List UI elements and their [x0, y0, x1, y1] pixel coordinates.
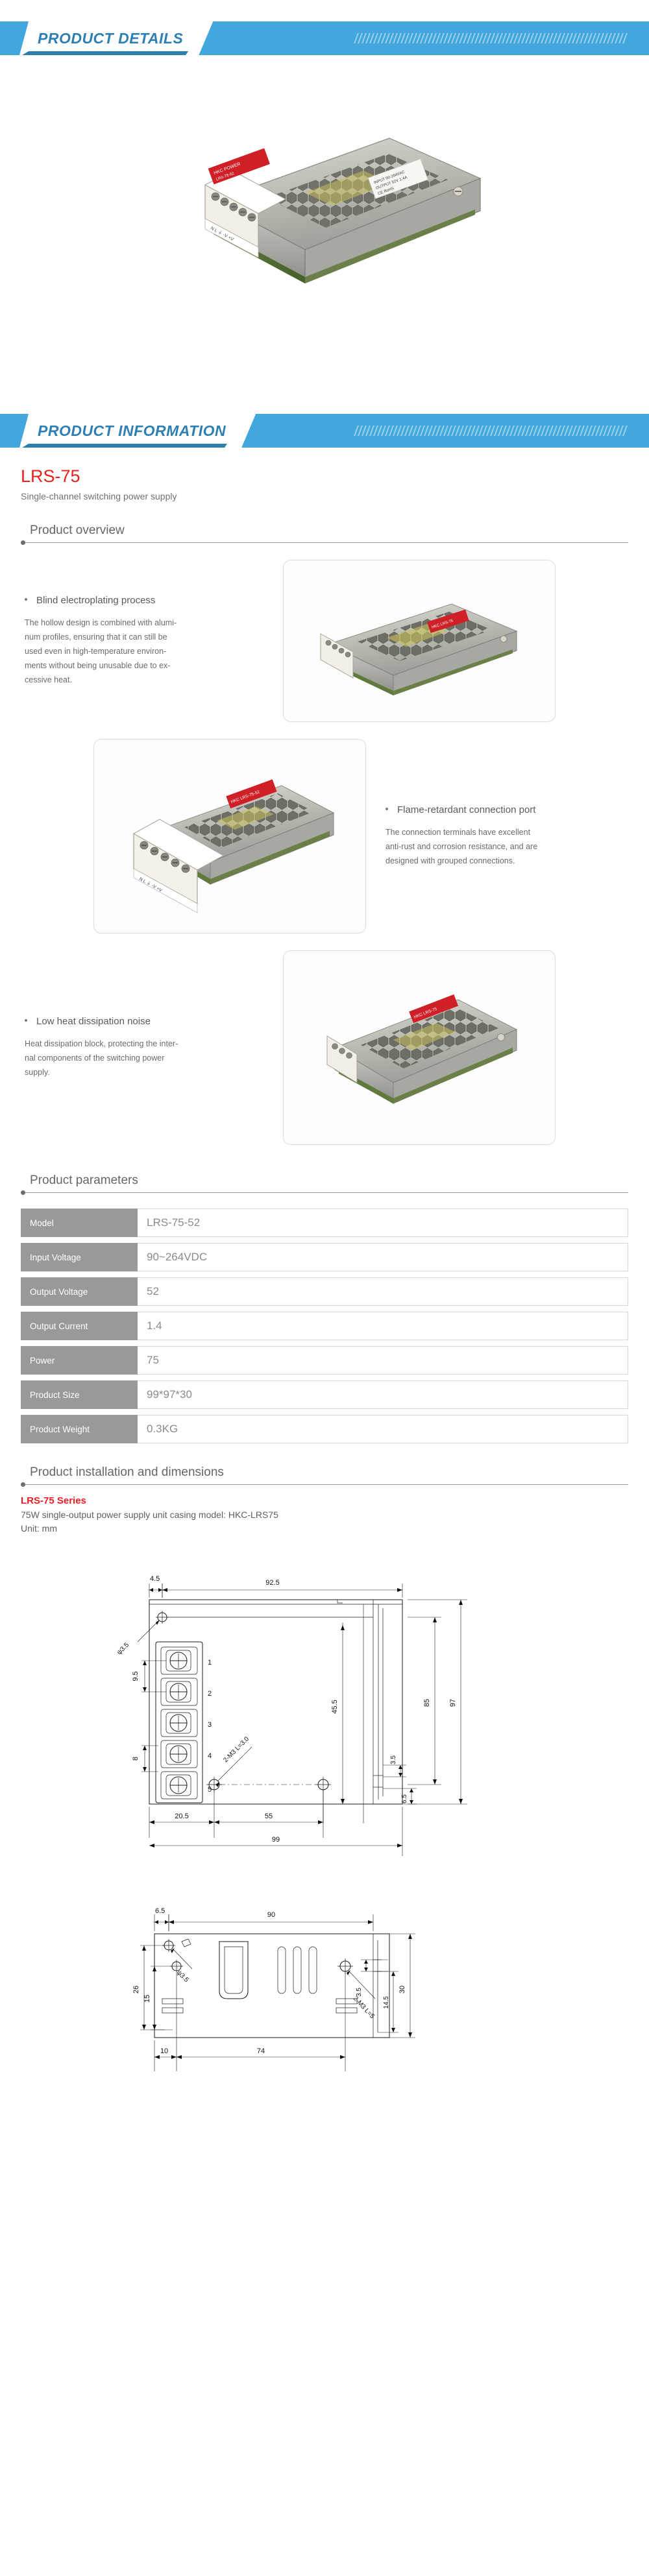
- dim-label-6-5-bottom: 6.5: [155, 1907, 165, 1915]
- feature-block: Low heat dissipation noise Heat dissipat…: [21, 950, 628, 1145]
- feature-body-line: anti-rust and corrosion resistance, and …: [386, 840, 624, 854]
- feature-block: Flame-retardant connection port The conn…: [21, 739, 628, 933]
- feature-image-1: HKC LRS-75: [283, 560, 556, 722]
- dim-label-3-5-bottom: 3.5: [356, 1988, 363, 1997]
- banner-tab-shadow: [19, 51, 188, 55]
- table-key: Output Voltage: [21, 1277, 138, 1306]
- bullet-icon: [25, 1019, 27, 1022]
- feature-body: The connection terminals have excellent …: [386, 826, 624, 869]
- feature-text: Low heat dissipation noise Heat dissipat…: [21, 1016, 267, 1080]
- dim-label-dia-3-5-bottom: ψ3.5: [175, 1969, 190, 1984]
- dimension-header: LRS-75 Series 75W single-output power su…: [21, 1495, 628, 1535]
- feature-text: Flame-retardant connection port The conn…: [382, 804, 628, 869]
- table-value: 52: [138, 1277, 628, 1306]
- dim-label-4-5: 4.5: [150, 1575, 160, 1583]
- dim-label-90: 90: [267, 1911, 275, 1919]
- section-dot-icon: [21, 1482, 25, 1487]
- feature-body-line: The connection terminals have excellent: [386, 826, 624, 840]
- dim-label-15: 15: [143, 1995, 151, 2003]
- dimension-drawing-svg: 4.5 92.5 ψ3.5: [78, 1545, 571, 2102]
- feature-title: Flame-retardant connection port: [397, 804, 535, 815]
- product-subtitle: Single-channel switching power supply: [21, 491, 628, 501]
- table-row: Product Weight 0.3KG: [21, 1415, 628, 1443]
- feature-body: Heat dissipation block, protecting the i…: [25, 1037, 263, 1080]
- feature-body-line: num profiles, ensuring that it can still…: [25, 631, 263, 645]
- technical-drawing: 4.5 92.5 ψ3.5: [0, 1545, 649, 2102]
- dim-label-3-5: 3.5: [390, 1755, 397, 1764]
- dim-label-74: 74: [257, 2047, 265, 2055]
- feature-body: The hollow design is combined with alumi…: [25, 616, 263, 687]
- table-key: Product Weight: [21, 1415, 138, 1443]
- dim-label-dia-3-5: ψ3.5: [116, 1642, 130, 1657]
- table-value: 90~264VDC: [138, 1243, 628, 1271]
- dim-label-26: 26: [132, 1986, 140, 1993]
- product-model-title: LRS-75: [21, 466, 628, 487]
- banner-product-information: PRODUCT INFORMATION: [0, 414, 649, 448]
- drawing-top-view: 4.5 92.5 ψ3.5: [116, 1575, 467, 1856]
- table-value: 1.4: [138, 1312, 628, 1340]
- table-value: 75: [138, 1346, 628, 1375]
- table-value: 99*97*30: [138, 1380, 628, 1409]
- hatch-decoration-icon: [356, 426, 626, 436]
- feature-body-line: supply.: [25, 1066, 263, 1080]
- section-installation-dimensions: Product installation and dimensions: [21, 1465, 628, 1485]
- table-row: Output Current 1.4: [21, 1312, 628, 1340]
- dim-label-97: 97: [449, 1699, 457, 1707]
- table-value: LRS-75-52: [138, 1209, 628, 1237]
- feature-title: Blind electroplating process: [36, 595, 155, 606]
- power-supply-photo-angle: HKC LRS-75: [289, 566, 549, 716]
- feature-body-line: ments without being unusable due to ex-: [25, 659, 263, 673]
- table-key: Model: [21, 1209, 138, 1237]
- dim-label-9-5: 9.5: [132, 1672, 140, 1681]
- dim-label-2-m3: 2-M3 L=3.0: [222, 1735, 251, 1764]
- section-rule: [25, 542, 628, 543]
- terminal-number: 3: [208, 1721, 212, 1729]
- dim-label-85: 85: [423, 1699, 431, 1707]
- dim-label-8: 8: [132, 1757, 140, 1761]
- banner-tab: PRODUCT DETAILS: [19, 21, 213, 55]
- table-row: Product Size 99*97*30: [21, 1380, 628, 1409]
- parameters-table: Model LRS-75-52 Input Voltage 90~264VDC …: [21, 1209, 628, 1443]
- banner-product-details: PRODUCT DETAILS: [0, 21, 649, 55]
- hatch-decoration-icon: [356, 33, 626, 43]
- section-heading: Product parameters: [21, 1174, 628, 1188]
- section-heading: Product installation and dimensions: [21, 1465, 628, 1480]
- table-row: Output Voltage 52: [21, 1277, 628, 1306]
- feature-image-3: HKC LRS-75: [283, 950, 556, 1145]
- product-header: LRS-75 Single-channel switching power su…: [0, 448, 649, 501]
- section-product-parameters: Product parameters: [21, 1174, 628, 1193]
- bullet-icon: [25, 598, 27, 601]
- section-rule: [25, 1484, 628, 1485]
- feature-body-line: used even in high-temperature environ-: [25, 645, 263, 659]
- section-dot-icon: [21, 540, 25, 545]
- section-heading: Product overview: [21, 524, 628, 538]
- drawing-bottom-view: 6.5 90 ψ3.5: [132, 1907, 415, 2071]
- feature-text: Blind electroplating process The hollow …: [21, 595, 267, 687]
- dim-label-99: 99: [272, 1836, 280, 1844]
- table-row: Input Voltage 90~264VDC: [21, 1243, 628, 1271]
- dim-label-20-5: 20.5: [175, 1812, 188, 1820]
- unit-line: Unit: mm: [21, 1522, 628, 1535]
- dim-label-10: 10: [160, 2047, 168, 2055]
- feature-body-line: nal components of the switching power: [25, 1052, 263, 1066]
- section-product-overview: Product overview: [21, 524, 628, 543]
- table-key: Product Size: [21, 1380, 138, 1409]
- table-row: Power 75: [21, 1346, 628, 1375]
- casing-model-line: 75W single-output power supply unit casi…: [21, 1508, 628, 1522]
- feature-title-row: Low heat dissipation noise: [25, 1016, 263, 1027]
- terminal-number: 4: [208, 1752, 212, 1760]
- feature-body-line: Heat dissipation block, protecting the i…: [25, 1037, 263, 1052]
- feature-title-row: Flame-retardant connection port: [386, 804, 624, 815]
- banner-tab: PRODUCT INFORMATION: [19, 414, 256, 448]
- feature-body-line: The hollow design is combined with alumi…: [25, 616, 263, 631]
- feature-image-2: N L ⏚ -V +V HKC LRS-75-52: [93, 739, 366, 933]
- bullet-icon: [386, 808, 388, 810]
- terminal-number: 2: [208, 1690, 212, 1698]
- table-value: 0.3KG: [138, 1415, 628, 1443]
- feature-body-line: cessive heat.: [25, 673, 263, 688]
- product-detail-page: PRODUCT DETAILS: [0, 21, 649, 2102]
- banner-title: PRODUCT DETAILS: [38, 30, 183, 47]
- dim-label-6-5: 6.5: [401, 1794, 408, 1803]
- table-key: Power: [21, 1346, 138, 1375]
- section-rule: [25, 1192, 628, 1193]
- feature-body-line: designed with grouped connections.: [386, 854, 624, 869]
- feature-title: Low heat dissipation noise: [36, 1016, 151, 1027]
- table-key: Output Current: [21, 1312, 138, 1340]
- hero-product-image: N L ⏚ -V +V HKC POWER LRS-75-52 INPUT 90…: [0, 55, 649, 392]
- section-dot-icon: [21, 1190, 25, 1195]
- table-key: Input Voltage: [21, 1243, 138, 1271]
- power-supply-photo-main: N L ⏚ -V +V HKC POWER LRS-75-52 INPUT 90…: [143, 88, 506, 360]
- dim-label-55: 55: [265, 1812, 273, 1820]
- dim-label-30: 30: [398, 1986, 406, 1993]
- feature-block: Blind electroplating process The hollow …: [21, 560, 628, 722]
- banner-tab-shadow: [19, 444, 227, 448]
- feature-title-row: Blind electroplating process: [25, 595, 263, 606]
- power-supply-photo-terminals: N L ⏚ -V +V HKC LRS-75-52: [100, 745, 360, 927]
- dim-label-14-5: 14.5: [383, 1996, 390, 2009]
- table-row: Model LRS-75-52: [21, 1209, 628, 1237]
- dim-label-92-5: 92.5: [265, 1579, 279, 1587]
- terminal-number: 1: [208, 1659, 212, 1667]
- power-supply-photo-vents: HKC LRS-75: [289, 957, 549, 1138]
- series-label: LRS-75 Series: [21, 1495, 628, 1506]
- dim-label-45-5: 45.5: [331, 1700, 339, 1714]
- banner-title: PRODUCT INFORMATION: [38, 422, 226, 440]
